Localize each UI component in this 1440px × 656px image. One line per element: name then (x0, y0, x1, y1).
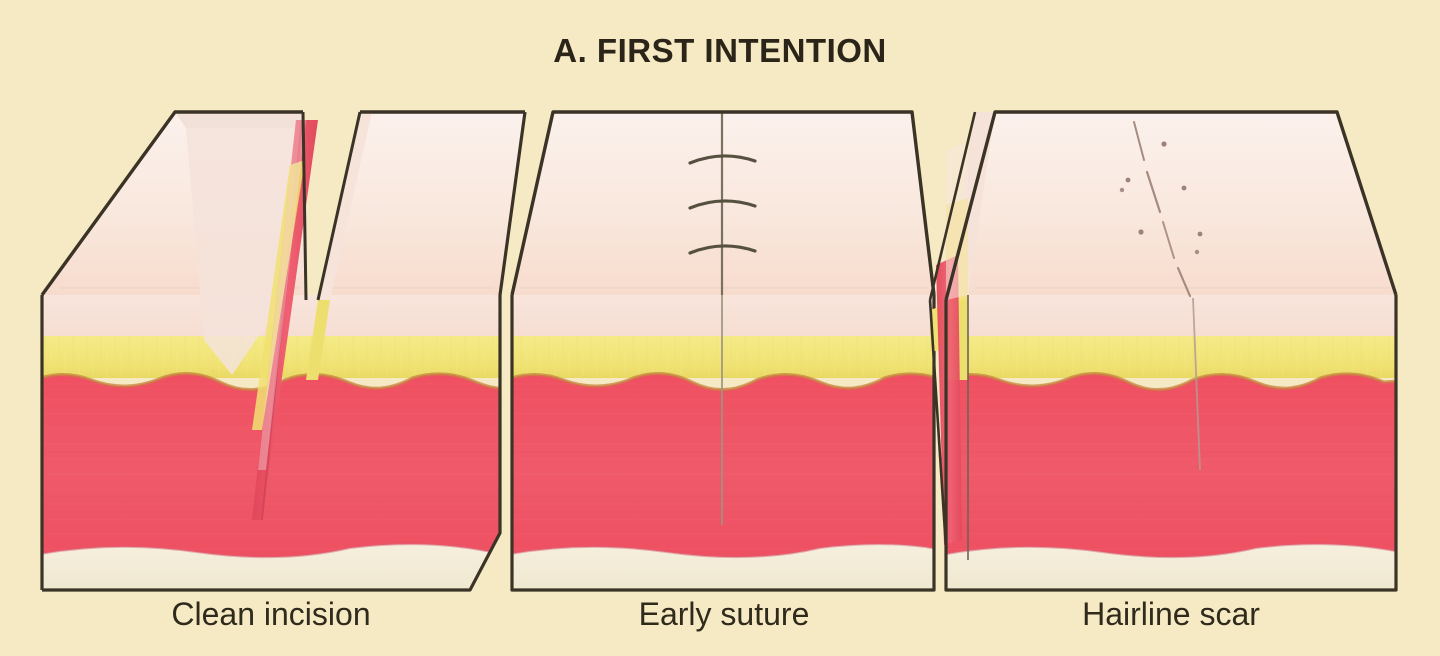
scar-dot (1120, 188, 1124, 192)
layer-muscle-striations-3 (936, 373, 1410, 570)
layer-muscle-striations-2 (500, 373, 960, 570)
scar-dot (1195, 250, 1199, 254)
figure-first-intention: A. FIRST INTENTION (0, 0, 1440, 656)
panel-clean-incision (30, 112, 540, 600)
caption-early-suture: Early suture (512, 596, 936, 633)
layer-fat-texture-3 (936, 336, 1410, 378)
scar-dot (1126, 178, 1131, 183)
caption-hairline-scar: Hairline scar (946, 596, 1396, 633)
skin-surface-3 (968, 112, 1396, 295)
panel-early-suture (500, 112, 960, 600)
panel-hairline-scar (930, 112, 1410, 600)
scar-dot (1198, 232, 1203, 237)
wound-healing-illustration (0, 0, 1440, 656)
layer-skin-3 (936, 290, 1408, 340)
tissue-block-3 (936, 290, 1410, 600)
scar-dot (1161, 141, 1166, 146)
scar-dot (1138, 229, 1143, 234)
layer-fat-texture-2 (500, 336, 950, 378)
layer-muscle-striations-1 (30, 373, 540, 570)
caption-clean-incision: Clean incision (42, 596, 500, 633)
skin-slab-top-1 (175, 112, 305, 128)
layer-skin-2 (500, 290, 950, 340)
tissue-block-2 (500, 290, 960, 600)
scar-dot (1182, 186, 1187, 191)
